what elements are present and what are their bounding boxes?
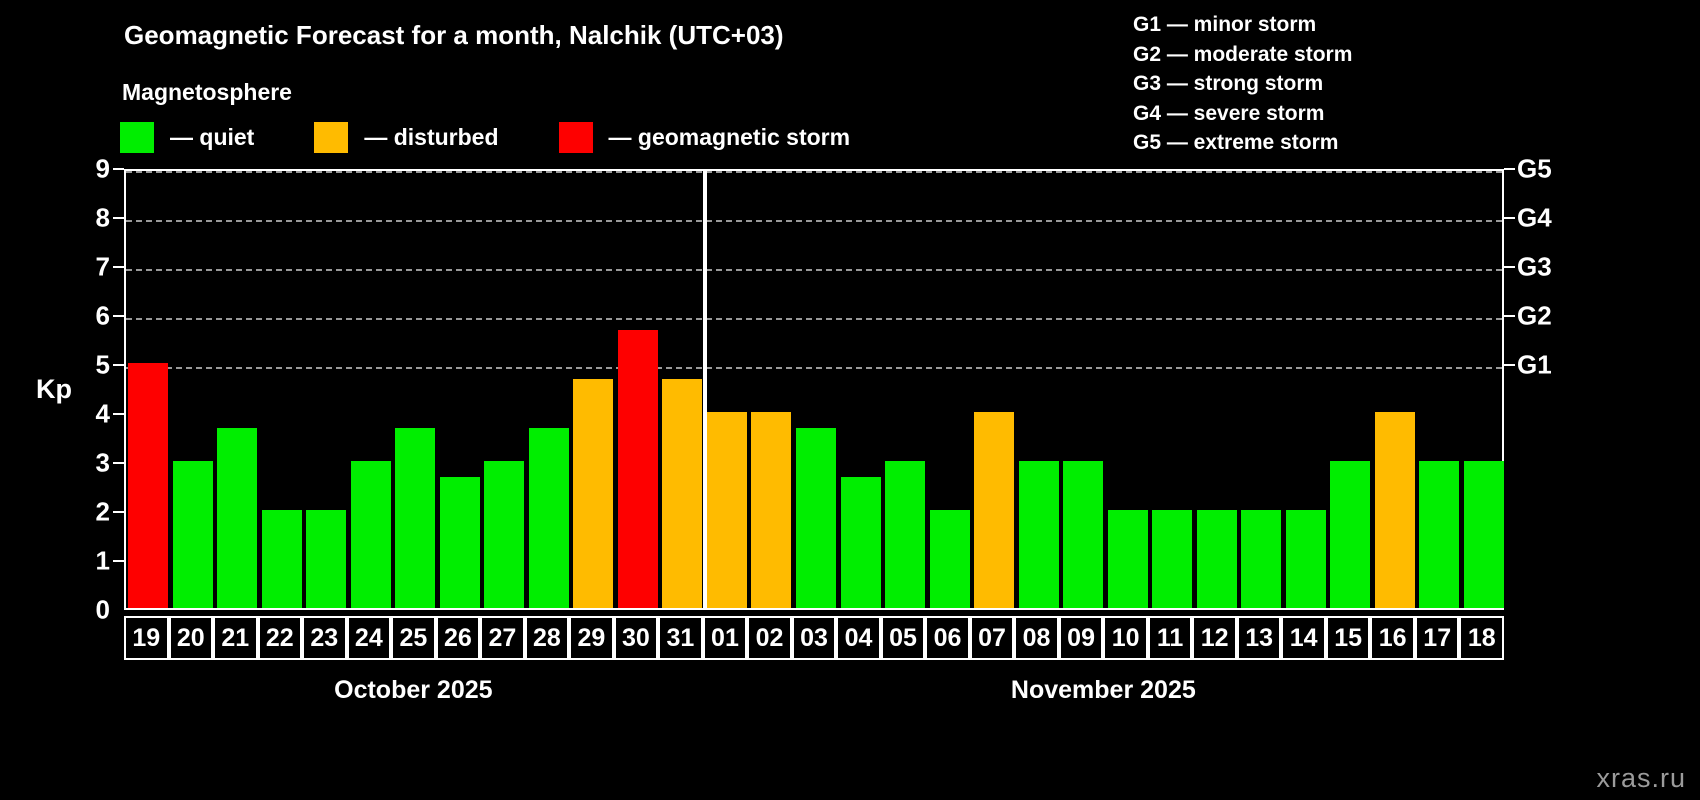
month-caption-october: October 2025 — [213, 676, 613, 705]
watermark: xras.ru — [1596, 763, 1686, 794]
y-tick-7: 7 — [80, 252, 110, 283]
bar-08[interactable] — [1019, 461, 1059, 608]
y-tick-0: 0 — [80, 595, 110, 626]
y-tick-5: 5 — [80, 350, 110, 381]
plot-area — [124, 169, 1504, 610]
y-axis-label: Kp — [36, 374, 72, 405]
date-cell-05[interactable]: 05 — [881, 616, 926, 660]
g-scale-tick-labels: G1G2G3G4G5 — [1510, 169, 1590, 610]
date-cell-10[interactable]: 10 — [1103, 616, 1148, 660]
date-cell-09[interactable]: 09 — [1059, 616, 1104, 660]
legend-label-disturbed: — disturbed — [364, 124, 498, 151]
legend-entry-quiet: — quiet — [120, 122, 254, 153]
y-tick-mark-4 — [113, 413, 124, 415]
date-cell-11[interactable]: 11 — [1148, 616, 1193, 660]
bar-15[interactable] — [1330, 461, 1370, 608]
bar-30[interactable] — [618, 330, 658, 608]
bar-16[interactable] — [1375, 412, 1415, 608]
gscale-legend: G1 — minor stormG2 — moderate stormG3 — … — [1133, 10, 1352, 158]
date-axis: 1920212223242526272829303101020304050607… — [124, 616, 1504, 660]
gscale-row-1: G1 — minor storm — [1133, 10, 1352, 40]
date-cell-13[interactable]: 13 — [1237, 616, 1282, 660]
date-cell-22[interactable]: 22 — [258, 616, 303, 660]
y-tick-mark-2 — [113, 511, 124, 513]
date-cell-24[interactable]: 24 — [347, 616, 392, 660]
g-tick-G2: G2 — [1517, 301, 1552, 332]
bar-18[interactable] — [1464, 461, 1504, 608]
bar-10[interactable] — [1108, 510, 1148, 608]
date-cell-27[interactable]: 27 — [480, 616, 525, 660]
g-tick-G4: G4 — [1517, 203, 1552, 234]
date-cell-03[interactable]: 03 — [792, 616, 837, 660]
y-tick-3: 3 — [80, 448, 110, 479]
y-axis-tick-labels: 0123456789 — [80, 169, 110, 610]
page-title: Geomagnetic Forecast for a month, Nalchi… — [124, 20, 784, 51]
date-cell-02[interactable]: 02 — [747, 616, 792, 660]
bar-04[interactable] — [841, 477, 881, 608]
bar-28[interactable] — [529, 428, 569, 608]
g-tick-G3: G3 — [1517, 252, 1552, 283]
bar-06[interactable] — [930, 510, 970, 608]
date-cell-04[interactable]: 04 — [836, 616, 881, 660]
bar-11[interactable] — [1152, 510, 1192, 608]
bar-01[interactable] — [707, 412, 747, 608]
date-cell-06[interactable]: 06 — [925, 616, 970, 660]
bar-03[interactable] — [796, 428, 836, 608]
y-tick-mark-9 — [113, 168, 124, 170]
g-tick-mark-G2 — [1504, 315, 1515, 317]
y-tick-mark-3 — [113, 462, 124, 464]
bar-31[interactable] — [662, 379, 702, 608]
date-cell-18[interactable]: 18 — [1459, 616, 1504, 660]
magnetosphere-label: Magnetosphere — [122, 79, 292, 106]
gscale-row-2: G2 — moderate storm — [1133, 40, 1352, 70]
bar-13[interactable] — [1241, 510, 1281, 608]
g-tick-mark-G3 — [1504, 266, 1515, 268]
bar-26[interactable] — [440, 477, 480, 608]
y-tick-mark-7 — [113, 266, 124, 268]
date-cell-26[interactable]: 26 — [436, 616, 481, 660]
g-tick-G5: G5 — [1517, 154, 1552, 185]
date-cell-12[interactable]: 12 — [1192, 616, 1237, 660]
y-tick-6: 6 — [80, 301, 110, 332]
y-tick-mark-5 — [113, 364, 124, 366]
date-cell-23[interactable]: 23 — [302, 616, 347, 660]
g-tick-mark-G5 — [1504, 168, 1515, 170]
bar-24[interactable] — [351, 461, 391, 608]
y-tick-2: 2 — [80, 497, 110, 528]
date-cell-28[interactable]: 28 — [525, 616, 570, 660]
date-cell-14[interactable]: 14 — [1281, 616, 1326, 660]
bar-25[interactable] — [395, 428, 435, 608]
legend-entry-geomagnetic-storm: — geomagnetic storm — [559, 122, 851, 153]
y-tick-9: 9 — [80, 154, 110, 185]
date-cell-29[interactable]: 29 — [569, 616, 614, 660]
bar-17[interactable] — [1419, 461, 1459, 608]
gscale-row-3: G3 — strong storm — [1133, 69, 1352, 99]
bar-02[interactable] — [751, 412, 791, 608]
legend-swatch-quiet — [120, 122, 154, 153]
gscale-row-4: G4 — severe storm — [1133, 99, 1352, 129]
bar-05[interactable] — [885, 461, 925, 608]
legend-label-geomagnetic-storm: — geomagnetic storm — [609, 124, 851, 151]
date-cell-17[interactable]: 17 — [1415, 616, 1460, 660]
date-cell-19[interactable]: 19 — [124, 616, 169, 660]
bar-12[interactable] — [1197, 510, 1237, 608]
y-tick-1: 1 — [80, 546, 110, 577]
date-cell-21[interactable]: 21 — [213, 616, 258, 660]
y-tick-8: 8 — [80, 203, 110, 234]
bars-layer — [126, 171, 1502, 608]
bar-19[interactable] — [128, 363, 168, 608]
y-tick-mark-6 — [113, 315, 124, 317]
y-axis-tick-marks — [113, 169, 124, 610]
bar-09[interactable] — [1063, 461, 1103, 608]
g-tick-mark-G4 — [1504, 217, 1515, 219]
month-caption-november: November 2025 — [903, 676, 1303, 705]
month-divider — [703, 169, 707, 610]
g-tick-G1: G1 — [1517, 350, 1552, 381]
date-cell-20[interactable]: 20 — [169, 616, 214, 660]
date-cell-01[interactable]: 01 — [703, 616, 748, 660]
date-cell-07[interactable]: 07 — [970, 616, 1015, 660]
bar-22[interactable] — [262, 510, 302, 608]
bar-23[interactable] — [306, 510, 346, 608]
bar-21[interactable] — [217, 428, 257, 608]
bar-29[interactable] — [573, 379, 613, 608]
legend-swatch-geomagnetic-storm — [559, 122, 593, 153]
date-cell-16[interactable]: 16 — [1370, 616, 1415, 660]
date-cell-31[interactable]: 31 — [658, 616, 703, 660]
date-cell-30[interactable]: 30 — [614, 616, 659, 660]
color-legend: — quiet— disturbed— geomagnetic storm — [120, 122, 910, 153]
legend-swatch-disturbed — [314, 122, 348, 153]
g-scale-tick-marks — [1504, 169, 1515, 610]
legend-entry-disturbed: — disturbed — [314, 122, 498, 153]
date-cell-25[interactable]: 25 — [391, 616, 436, 660]
bar-27[interactable] — [484, 461, 524, 608]
bar-20[interactable] — [173, 461, 213, 608]
bar-14[interactable] — [1286, 510, 1326, 608]
legend-label-quiet: — quiet — [170, 124, 254, 151]
bar-07[interactable] — [974, 412, 1014, 608]
gscale-row-5: G5 — extreme storm — [1133, 128, 1352, 158]
y-tick-mark-1 — [113, 560, 124, 562]
geomagnetic-forecast-chart: Geomagnetic Forecast for a month, Nalchi… — [0, 0, 1700, 800]
y-tick-4: 4 — [80, 399, 110, 430]
y-tick-mark-8 — [113, 217, 124, 219]
g-tick-mark-G1 — [1504, 364, 1515, 366]
date-cell-08[interactable]: 08 — [1014, 616, 1059, 660]
date-cell-15[interactable]: 15 — [1326, 616, 1371, 660]
